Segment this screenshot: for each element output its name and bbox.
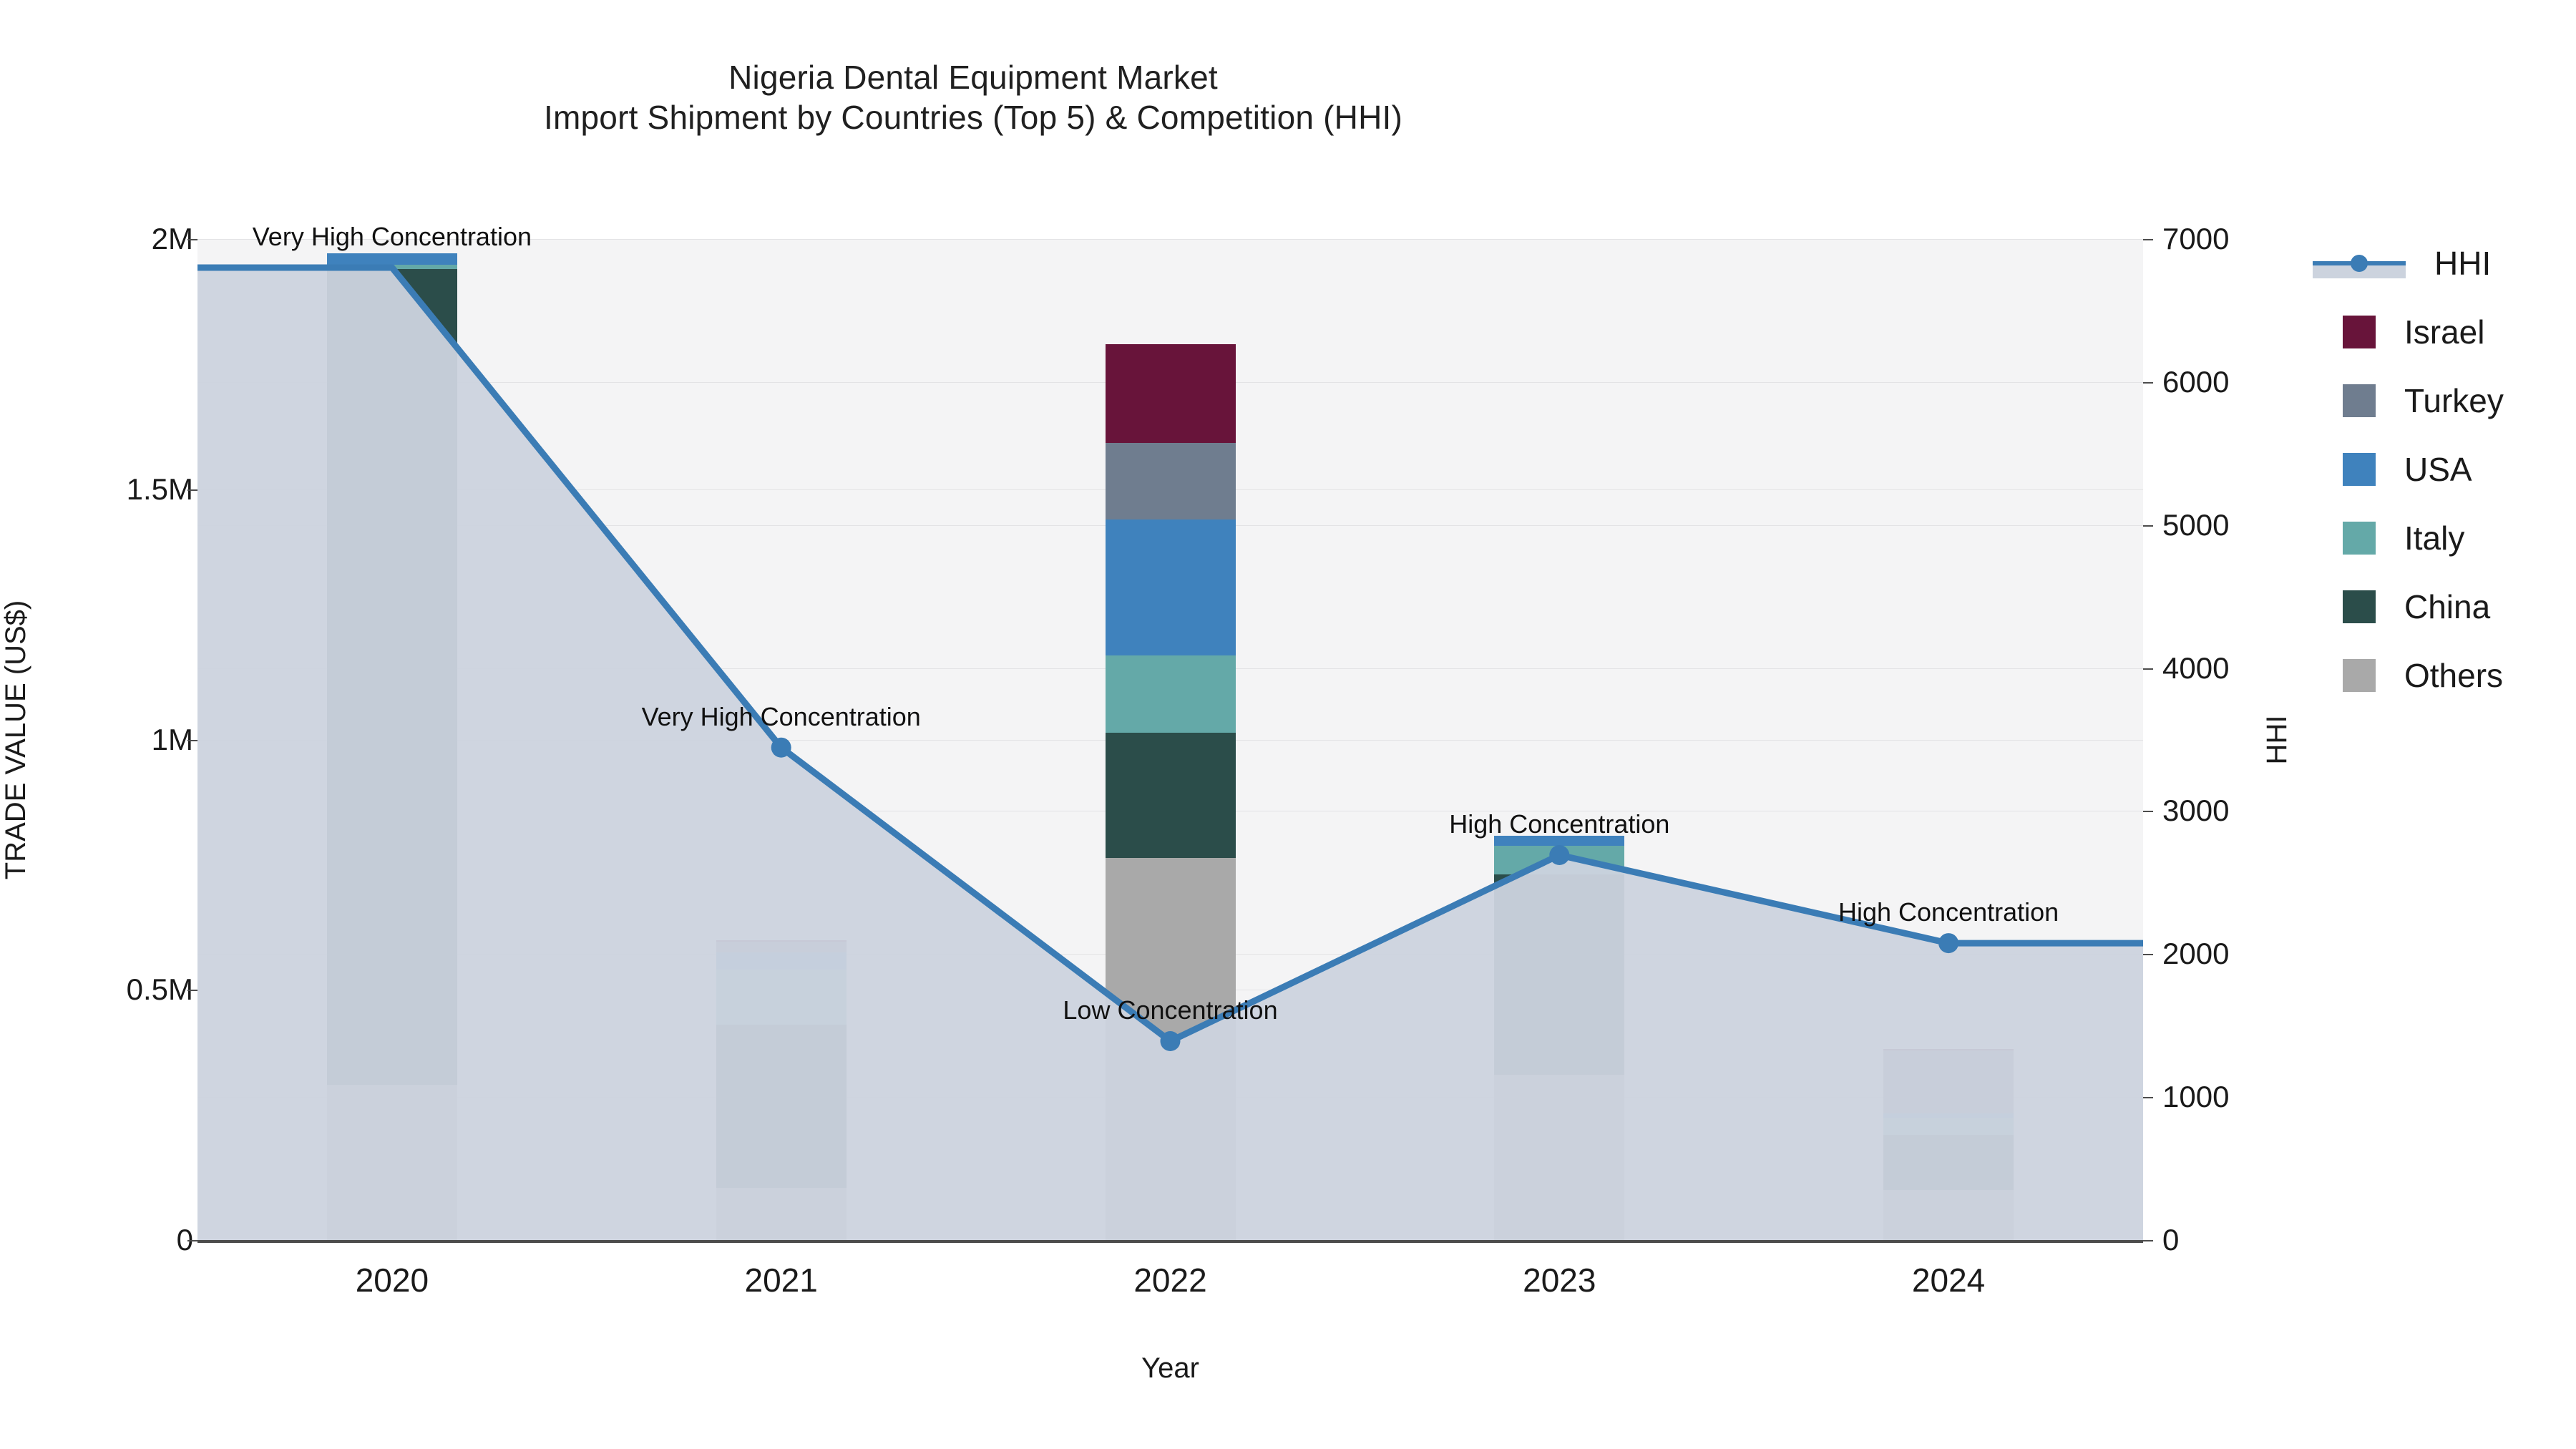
plot-area: Very High ConcentrationVery High Concent… (197, 239, 2143, 1240)
y-axis-right-label: HHI (2261, 716, 2293, 765)
y-tick-right-mark (2143, 811, 2153, 812)
x-tick-label: 2020 (249, 1261, 535, 1299)
title-line-2: Import Shipment by Countries (Top 5) & C… (0, 97, 1946, 137)
concentration-annotation: Very High Concentration (253, 222, 532, 252)
hhi-area-fill (197, 268, 2143, 1240)
y-tick-left-label: 1M (21, 723, 193, 757)
chart-figure: Nigeria Dental Equipment Market Import S… (0, 0, 2576, 1449)
legend-item-italy[interactable]: Italy (2313, 504, 2504, 572)
concentration-annotation: High Concentration (1449, 809, 1669, 839)
legend-color-swatch (2343, 453, 2376, 486)
legend-line-swatch (2313, 247, 2406, 280)
y-tick-right-mark (2143, 382, 2153, 384)
concentration-annotation: High Concentration (1838, 897, 2059, 927)
chart-title: Nigeria Dental Equipment Market Import S… (0, 57, 1946, 137)
legend-item-china[interactable]: China (2313, 572, 2504, 641)
y-tick-left-mark (187, 990, 197, 991)
y-tick-left-mark (187, 489, 197, 491)
legend-label: Others (2404, 656, 2503, 695)
y-tick-right-mark (2143, 525, 2153, 527)
hhi-line-layer (197, 239, 2143, 1240)
title-line-1: Nigeria Dental Equipment Market (0, 57, 1946, 97)
legend-item-turkey[interactable]: Turkey (2313, 366, 2504, 435)
hhi-marker[interactable] (771, 738, 791, 758)
legend-label: Israel (2404, 313, 2484, 351)
legend-item-usa[interactable]: USA (2313, 435, 2504, 504)
y-tick-left-label: 0 (21, 1223, 193, 1257)
y-tick-right-mark (2143, 954, 2153, 955)
y-tick-right-mark (2143, 668, 2153, 670)
y-axis-left-label: TRADE VALUE (US$) (0, 600, 32, 879)
y-tick-left-mark (187, 1240, 197, 1241)
y-tick-left-label: 0.5M (21, 972, 193, 1007)
x-axis-label: Year (197, 1352, 2143, 1385)
y-tick-left-mark (187, 740, 197, 741)
y-tick-right-mark (2143, 1097, 2153, 1098)
hhi-marker[interactable] (1549, 845, 1569, 865)
concentration-annotation: Very High Concentration (642, 702, 921, 732)
x-tick-label: 2023 (1416, 1261, 1702, 1299)
legend-color-swatch (2343, 384, 2376, 417)
y-tick-right-label: 0 (2162, 1223, 2334, 1257)
legend-label: HHI (2434, 244, 2491, 283)
chart-legend: HHIIsraelTurkeyUSAItalyChinaOthers (2313, 229, 2504, 710)
legend-label: Italy (2404, 519, 2464, 557)
legend-color-swatch (2343, 522, 2376, 555)
y-tick-right-label: 7000 (2162, 222, 2334, 256)
legend-color-swatch (2343, 659, 2376, 692)
legend-color-swatch (2343, 316, 2376, 348)
legend-item-israel[interactable]: Israel (2313, 298, 2504, 366)
y-tick-left-mark (187, 239, 197, 240)
y-tick-right-label: 6000 (2162, 365, 2334, 399)
y-tick-left-label: 1.5M (21, 472, 193, 507)
x-tick-label: 2021 (638, 1261, 924, 1299)
y-tick-left-label: 2M (21, 222, 193, 256)
legend-item-others[interactable]: Others (2313, 641, 2504, 710)
y-tick-right-label: 4000 (2162, 651, 2334, 686)
y-tick-right-mark (2143, 239, 2153, 240)
x-axis-line (197, 1240, 2143, 1243)
legend-label: USA (2404, 450, 2472, 489)
concentration-annotation: Low Concentration (1063, 995, 1277, 1025)
y-tick-right-label: 2000 (2162, 937, 2334, 971)
hhi-marker[interactable] (1161, 1031, 1181, 1051)
legend-label: China (2404, 587, 2490, 626)
legend-label: Turkey (2404, 381, 2504, 420)
y-tick-right-label: 5000 (2162, 508, 2334, 542)
legend-item-hhi[interactable]: HHI (2313, 229, 2504, 298)
y-tick-right-label: 1000 (2162, 1080, 2334, 1114)
hhi-marker[interactable] (1938, 933, 1958, 953)
y-tick-right-label: 3000 (2162, 794, 2334, 828)
x-tick-label: 2024 (1805, 1261, 2092, 1299)
legend-color-swatch (2343, 590, 2376, 623)
y-tick-right-mark (2143, 1240, 2153, 1241)
x-tick-label: 2022 (1028, 1261, 1314, 1299)
